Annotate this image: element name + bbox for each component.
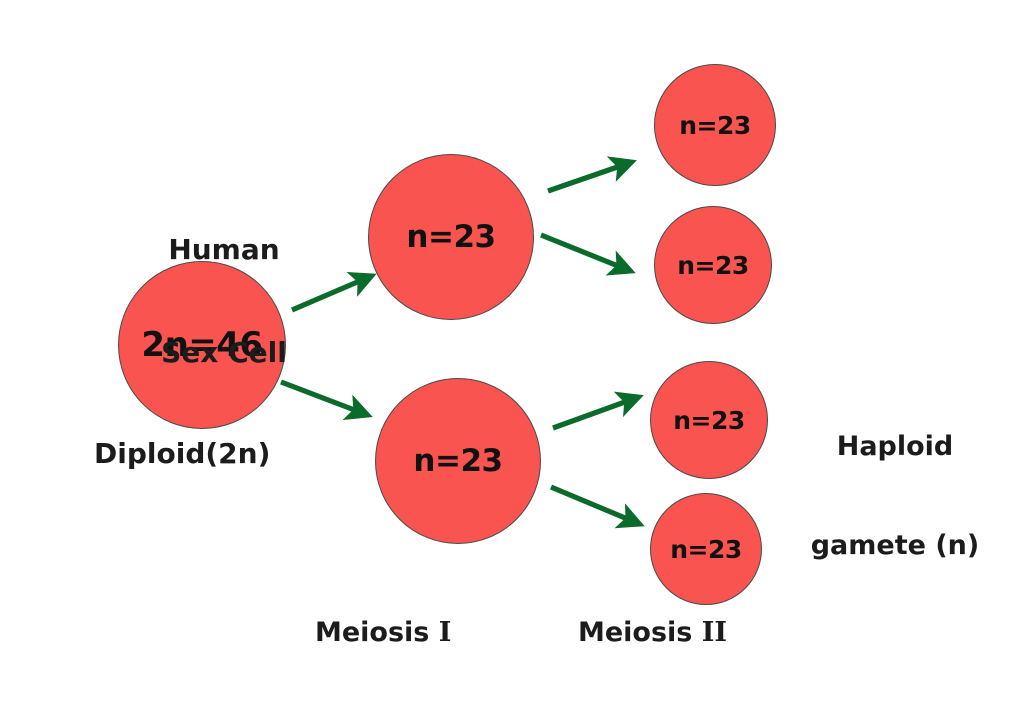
label-human-sex-cell-line2: Sex Cell xyxy=(124,336,324,370)
cell-gamete-3[interactable]: n=23 xyxy=(650,361,768,479)
label-meiosis-2-word: Meiosis xyxy=(578,617,692,648)
label-haploid-gamete-line1: Haploid xyxy=(772,431,1018,464)
label-meiosis-1-numeral: I xyxy=(439,617,452,648)
cell-meiosis1-top[interactable]: n=23 xyxy=(368,154,534,320)
cell-label-chromosome-count: n=23 xyxy=(670,535,742,564)
arrow-meiosis1-top-to-gamete-2 xyxy=(541,235,628,270)
cell-gamete-2[interactable]: n=23 xyxy=(654,206,772,324)
cell-label-chromosome-count: n=23 xyxy=(413,443,502,479)
label-haploid-gamete-line2: gamete (n) xyxy=(772,530,1018,563)
label-meiosis-1: Meiosis I xyxy=(315,617,451,650)
arrow-meiosis1-bottom-to-gamete-3 xyxy=(553,398,636,428)
cell-gamete-1[interactable]: n=23 xyxy=(654,64,776,186)
cell-gamete-4[interactable]: n=23 xyxy=(650,493,762,605)
meiosis-diagram: 2n=46 n=23 n=23 n=23 n=23 n=23 n=23 Huma… xyxy=(0,0,1024,708)
label-meiosis-1-word: Meiosis xyxy=(315,617,429,648)
cell-label-chromosome-count: n=23 xyxy=(679,111,751,140)
label-human-sex-cell: Human Sex Cell xyxy=(124,165,324,438)
cell-label-chromosome-count: n=23 xyxy=(673,406,745,435)
cell-label-chromosome-count: n=23 xyxy=(406,219,495,255)
label-meiosis-2: Meiosis II xyxy=(578,617,727,650)
label-diploid: Diploid(2n) xyxy=(94,437,270,471)
cell-label-chromosome-count: n=23 xyxy=(677,251,749,280)
label-meiosis-2-numeral: II xyxy=(702,617,727,648)
cell-meiosis1-bottom[interactable]: n=23 xyxy=(375,378,541,544)
arrow-meiosis1-bottom-to-gamete-4 xyxy=(551,487,637,523)
label-haploid-gamete: Haploid gamete (n) xyxy=(772,365,1018,629)
label-human-sex-cell-line1: Human xyxy=(124,233,324,267)
arrow-meiosis1-top-to-gamete-1 xyxy=(548,163,629,191)
